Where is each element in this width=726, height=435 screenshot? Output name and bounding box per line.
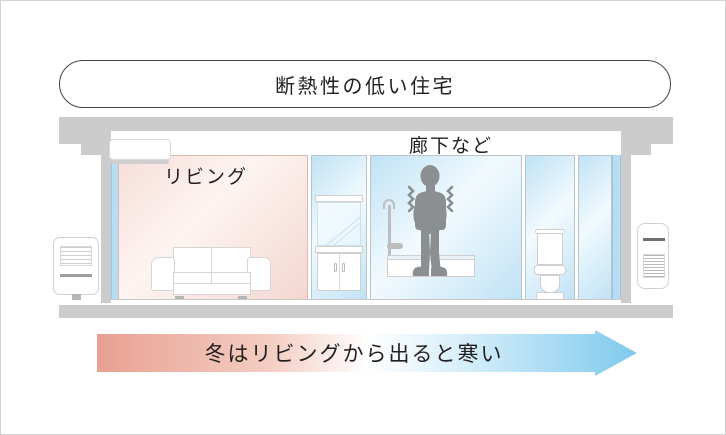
room-label-corridor: 廊下など bbox=[409, 131, 493, 158]
toilet-icon bbox=[534, 229, 566, 301]
diagram-title-pill: 断熱性の低い住宅 bbox=[59, 60, 671, 108]
house-cross-section: リビング 廊下など bbox=[59, 117, 673, 317]
sofa-icon bbox=[151, 247, 271, 297]
roof-slab bbox=[59, 117, 673, 131]
left-eave-lower bbox=[81, 144, 111, 155]
exterior-wall-right bbox=[621, 155, 631, 303]
right-eave-lower bbox=[621, 144, 651, 155]
ceiling-cavity bbox=[111, 131, 621, 155]
shower-head-icon bbox=[381, 199, 399, 259]
shivering-person-silhouette-icon bbox=[399, 165, 461, 280]
washbasin-vanity-icon bbox=[315, 195, 363, 291]
air-conditioner-outdoor-unit-left-icon bbox=[53, 237, 99, 295]
arrow-caption: 冬はリビングから出ると寒い bbox=[97, 330, 637, 376]
window-stripe-right bbox=[612, 155, 621, 303]
air-conditioner-indoor-unit-icon bbox=[109, 139, 171, 160]
room-label-living: リビング bbox=[164, 162, 248, 189]
diagram-canvas: 断熱性の低い住宅 リビング bbox=[0, 0, 726, 435]
right-eave-upper bbox=[621, 131, 673, 144]
room-right bbox=[578, 155, 612, 303]
air-conditioner-outdoor-unit-right-icon bbox=[637, 223, 669, 289]
foundation-band bbox=[59, 305, 673, 318]
temperature-gradient-arrow: 冬はリビングから出ると寒い bbox=[97, 330, 637, 376]
left-eave-upper bbox=[59, 131, 111, 144]
page-title: 断熱性の低い住宅 bbox=[275, 70, 455, 99]
exterior-wall-left bbox=[101, 155, 111, 303]
